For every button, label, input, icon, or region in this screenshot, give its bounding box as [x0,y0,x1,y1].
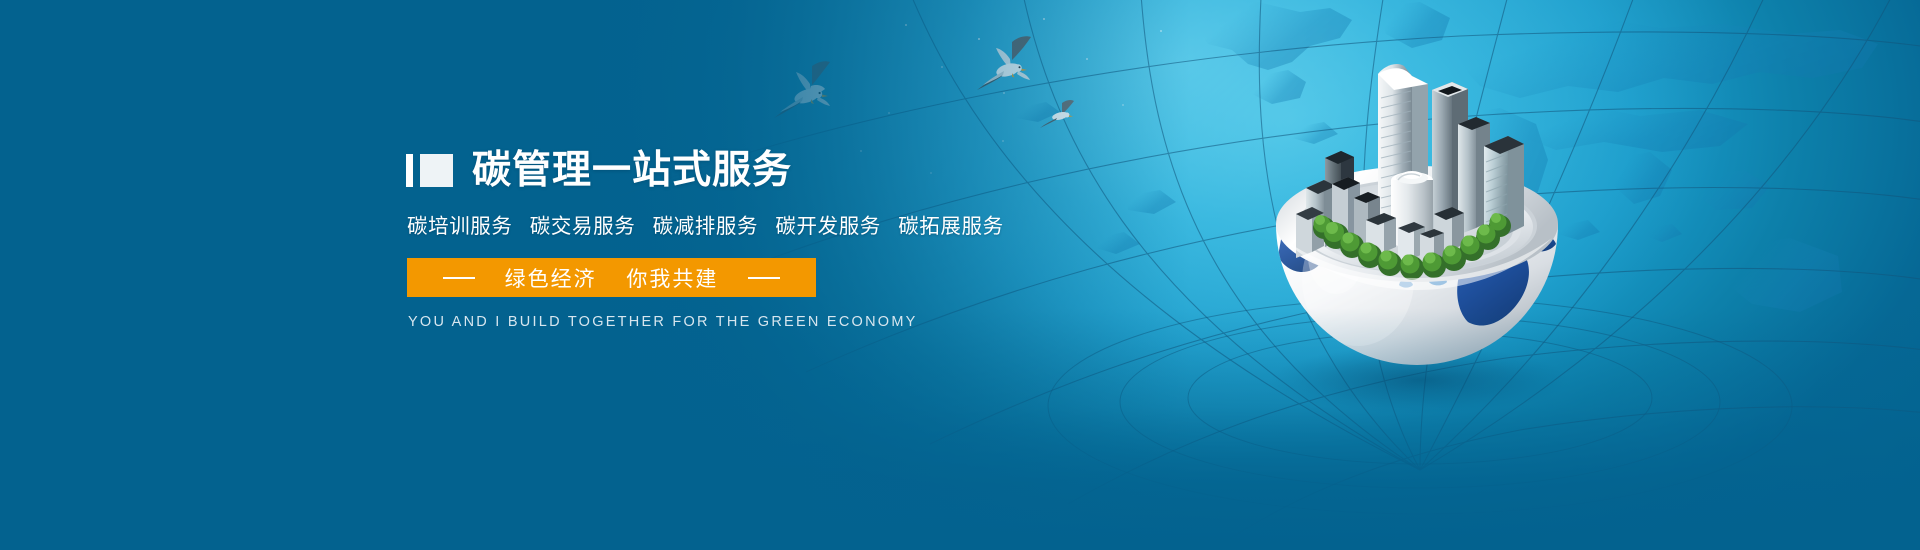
slogan-text: 绿色经济 你我共建 [505,263,719,293]
slogan-dash-left [443,277,475,279]
service-item-2[interactable]: 碳减排服务 [653,215,759,238]
service-item-3[interactable]: 碳开发服务 [775,215,881,238]
service-item-0[interactable]: 碳培训服务 [407,215,513,238]
carbon-management-banner: 碳管理一站式服务 碳培训服务 碳交易服务 碳减排服务 碳开发服务 碳拓展服务 绿… [0,0,1920,550]
bar-square-mark-icon [406,154,453,187]
slogan-part-two: 你我共建 [626,268,718,291]
page-title: 碳管理一站式服务 [472,151,792,190]
slogan-part-one: 绿色经济 [505,268,597,291]
english-tagline: YOU AND I BUILD TOGETHER FOR THE GREEN E… [408,314,1126,330]
service-item-4[interactable]: 碳拓展服务 [898,215,1004,238]
title-row: 碳管理一站式服务 [406,146,1126,194]
banner-content: 碳管理一站式服务 碳培训服务 碳交易服务 碳减排服务 碳开发服务 碳拓展服务 绿… [406,146,1126,330]
service-list: 碳培训服务 碳交易服务 碳减排服务 碳开发服务 碳拓展服务 [407,209,1126,239]
slogan-dash-right [748,277,780,279]
service-item-1[interactable]: 碳交易服务 [530,215,636,238]
slogan-banner: 绿色经济 你我共建 [407,258,816,297]
